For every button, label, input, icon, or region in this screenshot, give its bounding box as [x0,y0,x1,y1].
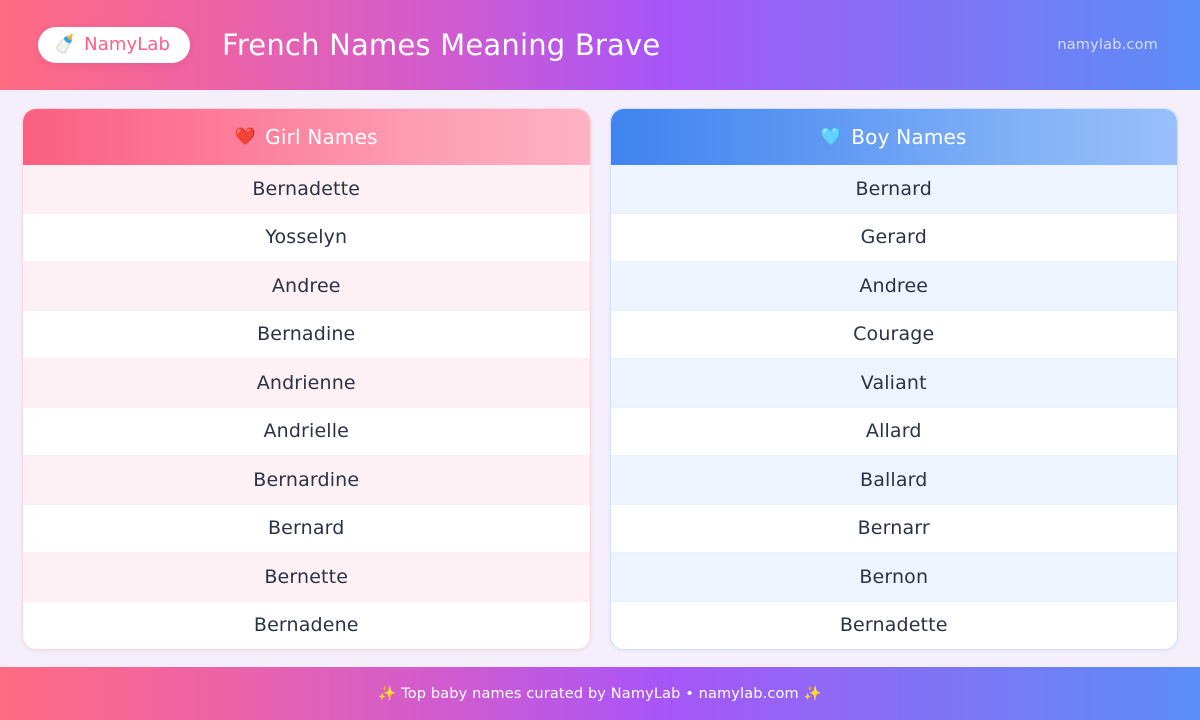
girl-names-card: ❤️ Girl Names Bernadette Yosselyn Andree… [22,108,591,650]
girl-names-title: Girl Names [265,125,378,149]
baby-bottle-icon: 🍼 [53,34,77,55]
list-item[interactable]: Bernadine [23,310,590,359]
brand-label: NamyLab [84,36,170,54]
list-item[interactable]: Allard [611,407,1178,456]
site-url: namylab.com [1057,37,1176,53]
list-item[interactable]: Courage [611,310,1178,359]
boy-names-title: Boy Names [851,125,966,149]
list-item[interactable]: Yosselyn [23,213,590,262]
list-item[interactable]: Bernard [23,504,590,553]
page-header: 🍼 NamyLab French Names Meaning Brave nam… [0,0,1200,90]
list-item[interactable]: Andree [611,261,1178,310]
list-item[interactable]: Andree [23,261,590,310]
list-item[interactable]: Valiant [611,358,1178,407]
list-item[interactable]: Andrielle [23,407,590,456]
boy-names-list: Bernard Gerard Andree Courage Valiant Al… [611,165,1178,649]
brand-badge[interactable]: 🍼 NamyLab [38,27,190,63]
footer-credit: ✨ Top baby names curated by NamyLab • na… [378,685,822,702]
list-item[interactable]: Bernadette [611,601,1178,650]
list-item[interactable]: Bernadette [23,165,590,213]
list-item[interactable]: Bernardine [23,455,590,504]
list-item[interactable]: Andrienne [23,358,590,407]
page-root: 🍼 NamyLab French Names Meaning Brave nam… [0,0,1200,720]
page-footer: ✨ Top baby names curated by NamyLab • na… [0,667,1200,720]
list-item[interactable]: Gerard [611,213,1178,262]
list-item[interactable]: Bernard [611,165,1178,213]
red-heart-icon: ❤️ [235,129,256,146]
light-blue-heart-icon: 🩵 [821,129,842,146]
list-item[interactable]: Bernarr [611,504,1178,553]
list-item[interactable]: Bernadene [23,601,590,650]
list-item[interactable]: Bernette [23,552,590,601]
girl-names-list: Bernadette Yosselyn Andree Bernadine And… [23,165,590,649]
main-content: ❤️ Girl Names Bernadette Yosselyn Andree… [0,90,1200,667]
boy-names-card: 🩵 Boy Names Bernard Gerard Andree Courag… [610,108,1179,650]
girl-names-header: ❤️ Girl Names [23,109,590,165]
list-item[interactable]: Ballard [611,455,1178,504]
page-title: French Names Meaning Brave [222,28,660,62]
boy-names-header: 🩵 Boy Names [611,109,1178,165]
list-item[interactable]: Bernon [611,552,1178,601]
